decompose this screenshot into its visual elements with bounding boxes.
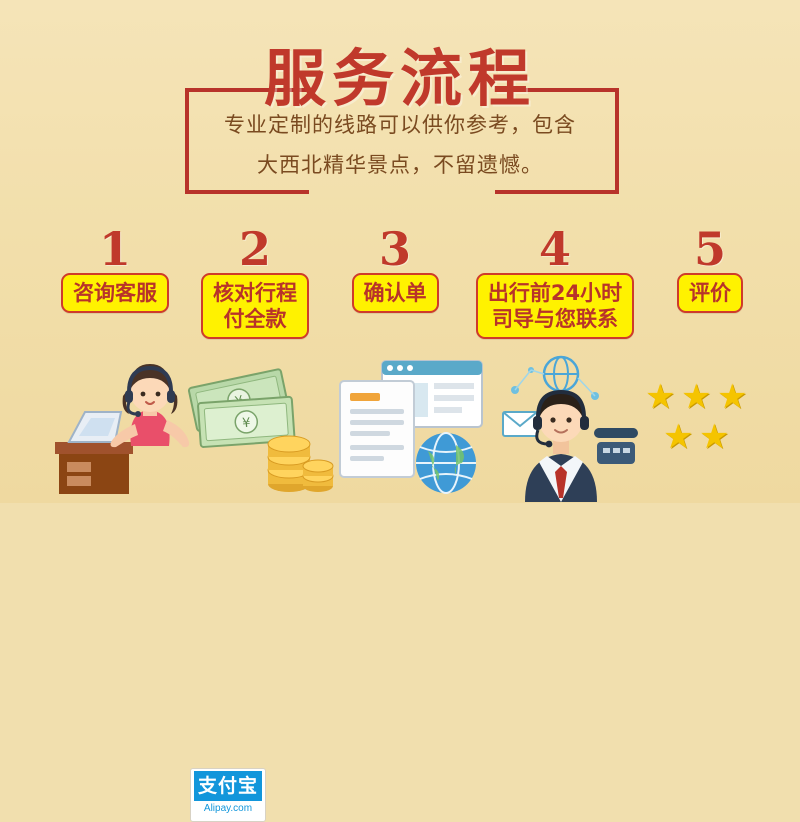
phone-operator-icon bbox=[485, 350, 645, 502]
step-5-number: 5 bbox=[650, 225, 770, 273]
step-3-number: 3 bbox=[330, 225, 460, 273]
star-icon: ★ bbox=[663, 420, 693, 454]
customer-service-agent-icon bbox=[45, 350, 195, 500]
five-stars-icon: ★ ★ ★ ★ ★ bbox=[645, 380, 775, 480]
step-1: 1 咨询客服 bbox=[30, 225, 200, 313]
step-1-label[interactable]: 咨询客服 bbox=[61, 273, 169, 313]
step-1-number: 1 bbox=[30, 225, 200, 273]
service-process-banner: 服务流程 专业定制的线路可以供你参考，包含 大西北精华景点，不留遗憾。 1 咨询… bbox=[0, 0, 800, 503]
star-icon: ★ bbox=[645, 380, 675, 414]
svg-text:¥: ¥ bbox=[242, 416, 251, 432]
star-icon: ★ bbox=[717, 380, 747, 414]
illustrations-row: ¥ ¥ bbox=[0, 350, 800, 503]
step-4-label[interactable]: 出行前24小时 司导与您联系 bbox=[476, 273, 634, 339]
cash-and-coins-icon: ¥ ¥ bbox=[185, 360, 335, 500]
step-4: 4 出行前24小时 司导与您联系 bbox=[455, 225, 655, 339]
step-3-label[interactable]: 确认单 bbox=[352, 273, 439, 313]
alipay-logo: 支付宝 Alipay.com bbox=[190, 768, 266, 822]
step-2-number: 2 bbox=[185, 225, 325, 273]
star-icon: ★ bbox=[681, 380, 711, 414]
step-5: 5 评价 bbox=[650, 225, 770, 313]
step-3: 3 确认单 bbox=[330, 225, 460, 313]
alipay-domain: Alipay.com bbox=[191, 801, 265, 817]
subtitle-line-1: 专业定制的线路可以供你参考，包含 bbox=[150, 105, 650, 145]
step-2: 2 核对行程 付全款 bbox=[185, 225, 325, 339]
subtitle-line-2: 大西北精华景点，不留遗憾。 bbox=[150, 145, 650, 185]
step-5-label[interactable]: 评价 bbox=[677, 273, 743, 313]
step-4-number: 4 bbox=[455, 225, 655, 273]
step-2-label[interactable]: 核对行程 付全款 bbox=[201, 273, 309, 339]
header-section: 服务流程 专业定制的线路可以供你参考，包含 大西北精华景点，不留遗憾。 bbox=[0, 0, 800, 215]
subtitle-block: 专业定制的线路可以供你参考，包含 大西北精华景点，不留遗憾。 bbox=[150, 105, 650, 185]
steps-row: 1 咨询客服 2 核对行程 付全款 3 确认单 4 出行前24小时 司导与您联系… bbox=[0, 225, 800, 365]
star-icon: ★ bbox=[699, 420, 729, 454]
alipay-name: 支付宝 bbox=[194, 771, 262, 801]
document-browser-icon bbox=[330, 355, 490, 503]
